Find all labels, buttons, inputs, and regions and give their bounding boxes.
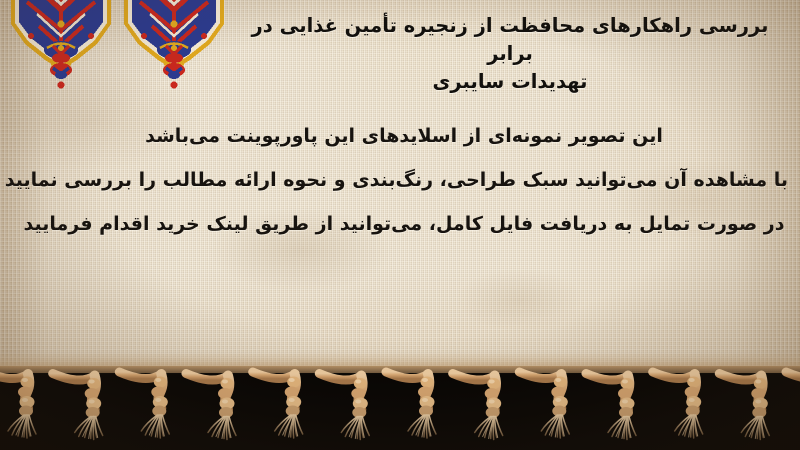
fringe-tassel	[253, 372, 303, 438]
slide-body-line-3: در صورت تمایل به دریافت فایل کامل، می‌تو…	[20, 202, 788, 246]
slide-title-line-2: تهدیدات سایبری	[230, 68, 790, 96]
slide-title: بررسی راهکارهای محافظت از زنجیره تأمین غ…	[230, 12, 790, 96]
fringe-tassel	[586, 374, 636, 440]
slide-body-line-2: با مشاهده آن می‌توانید سبک طراحی، رنگ‌بن…	[20, 158, 788, 202]
slide-title-line-1: بررسی راهکارهای محافظت از زنجیره تأمین غ…	[230, 12, 790, 68]
fringe-tassel	[786, 372, 800, 438]
carpet-fringe	[0, 366, 800, 450]
fringe-tassel	[653, 372, 703, 438]
presentation-slide: بررسی راهکارهای محافظت از زنجیره تأمین غ…	[0, 0, 800, 450]
fringe-tassel	[386, 372, 436, 438]
fringe-tassel	[119, 372, 169, 438]
fringe-tassel	[719, 374, 769, 440]
carpet-medallion-ornament-left	[5, 0, 117, 96]
fringe-tassel	[453, 374, 503, 440]
fringe-tassel	[519, 372, 569, 438]
fringe-tassel	[186, 374, 236, 440]
fringe-tassel	[319, 374, 369, 440]
fringe-tassel	[53, 374, 103, 440]
carpet-medallion-ornament-right	[118, 0, 230, 96]
slide-body-text: این تصویر نمونه‌ای از اسلایدهای این پاور…	[20, 114, 788, 246]
slide-body-line-1: این تصویر نمونه‌ای از اسلایدهای این پاور…	[20, 114, 788, 158]
fringe-tassel	[0, 372, 36, 438]
